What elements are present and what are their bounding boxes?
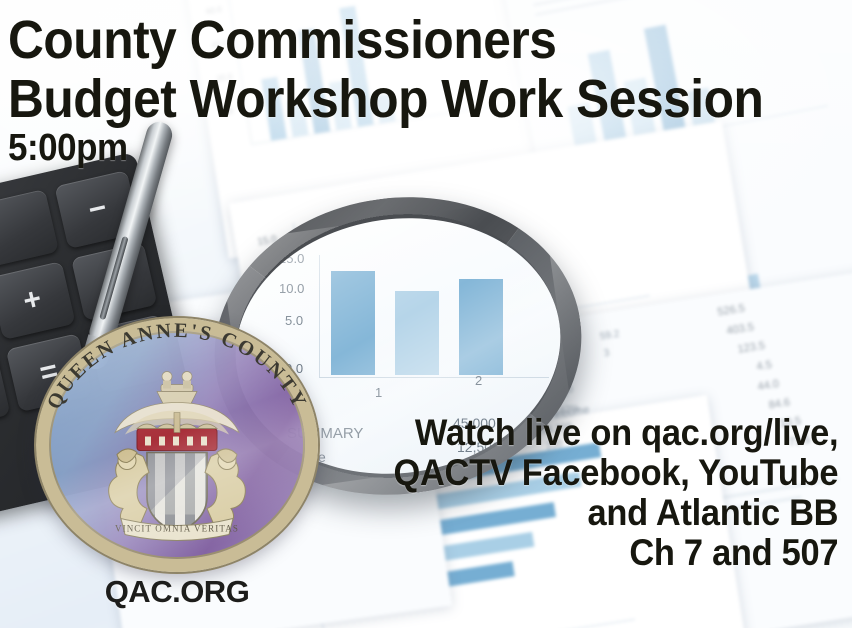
page-title: County Commissioners Budget Workshop Wor…: [8, 14, 829, 167]
watch-line-4: Ch 7 and 507: [393, 533, 838, 573]
poster-canvas: 60.0 40.0 20.0 0.0: [0, 0, 852, 628]
headline-line-2: Budget Workshop Work Session: [8, 73, 763, 126]
watch-line-2: QACTV Facebook, YouTube: [393, 453, 838, 493]
coat-of-arms: VINCIT OMNIA VERITAS: [87, 352, 267, 547]
watch-line-1: Watch live on qac.org/live,: [393, 413, 838, 453]
event-time: 5:00pm: [8, 130, 763, 167]
seal-motto: VINCIT OMNIA VERITAS: [115, 523, 239, 533]
county-seal-logo: VINCIT OMNIA VERITAS QUEEN ANNE'S COUNTY…: [36, 318, 318, 572]
watch-live-info: Watch live on qac.org/live, QACTV Facebo…: [360, 413, 838, 573]
headline-line-1: County Commissioners: [8, 14, 763, 67]
watch-line-3: and Atlantic BB: [393, 493, 838, 533]
coat-of-arms-svg: VINCIT OMNIA VERITAS: [87, 352, 267, 542]
seal-website-label: QAC.ORG: [36, 574, 318, 610]
calculator-key-blank-1: [0, 189, 59, 268]
seal-disc: VINCIT OMNIA VERITAS: [36, 318, 318, 572]
